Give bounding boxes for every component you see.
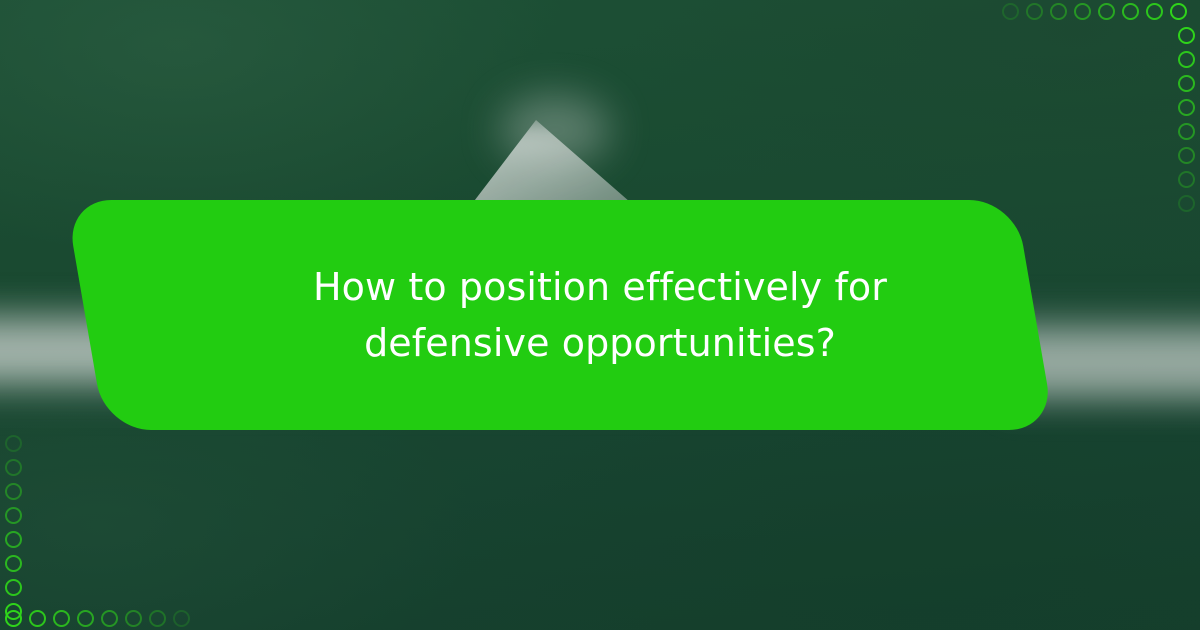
- decorative-circle: [5, 579, 22, 596]
- decorative-circle: [1178, 171, 1195, 188]
- headline-card-text-area: How to position effectively for defensiv…: [105, 200, 1095, 430]
- decorative-circle: [1146, 3, 1163, 20]
- decorative-circle: [1122, 3, 1139, 20]
- decorative-circle: [5, 459, 22, 476]
- decorative-circle: [29, 610, 46, 627]
- decorative-circle: [5, 555, 22, 572]
- social-card-canvas: How to position effectively for defensiv…: [0, 0, 1200, 630]
- decorative-circle: [1178, 99, 1195, 116]
- decorative-circle: [149, 610, 166, 627]
- decorative-circle: [1002, 3, 1019, 20]
- decorative-circle: [1178, 147, 1195, 164]
- decorative-circle: [77, 610, 94, 627]
- decorative-circle: [1178, 27, 1195, 44]
- decorative-circle: [53, 610, 70, 627]
- decorative-circle: [5, 610, 22, 627]
- decorative-circle: [1178, 51, 1195, 68]
- decorative-circle: [1178, 195, 1195, 212]
- decorative-circle: [173, 610, 190, 627]
- decorative-circle: [101, 610, 118, 627]
- decorative-circle: [125, 610, 142, 627]
- decorative-circle: [1074, 3, 1091, 20]
- decorative-circle: [1178, 75, 1195, 92]
- decorative-circle: [1170, 3, 1187, 20]
- decorative-circle: [1098, 3, 1115, 20]
- decorative-circle: [1050, 3, 1067, 20]
- decorative-circle: [1178, 123, 1195, 140]
- decorative-circle: [5, 483, 22, 500]
- decorative-circle: [1026, 3, 1043, 20]
- decorative-circle: [5, 507, 22, 524]
- decorative-circle: [5, 435, 22, 452]
- headline-text: How to position effectively for defensiv…: [240, 259, 960, 371]
- decorative-circle: [5, 531, 22, 548]
